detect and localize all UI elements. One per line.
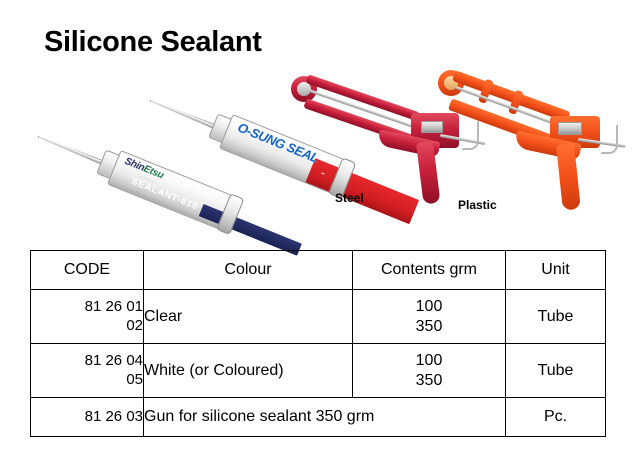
tube-nozzle-icon [149,98,218,130]
cell-contents: 100 350 [353,344,506,398]
cell-code: 81 26 03 [31,398,144,437]
code-line-1: 81 26 04 [31,352,143,370]
table-row: 81 26 01 02 Clear 100 350 Tube [31,290,606,344]
column-header-unit: Unit [506,251,606,290]
tube-nozzle-icon [37,134,106,166]
cell-colour: Clear [144,290,353,344]
column-header-colour: Colour [144,251,353,290]
tube-label-band [199,204,302,256]
caulking-gun-plastic: Plastic [410,58,610,213]
gun-hook-icon [600,124,618,154]
gun-label-steel: Steel [335,191,364,205]
gun-label-plastic: Plastic [458,198,497,212]
cell-contents: 100 350 [353,290,506,344]
cell-unit: Pc. [506,398,606,437]
column-header-code: CODE [31,251,144,290]
contents-line-2: 350 [353,371,505,391]
code-line-1: 81 26 03 [31,408,143,426]
cell-colour: White (or Coloured) [144,344,353,398]
contents-line-1: 100 [353,351,505,371]
contents-line-1: 100 [353,297,505,317]
cell-description: Gun for silicone sealant 350 grm [144,398,506,437]
gun-pressure-plate [558,122,582,135]
table-row: 81 26 03 Gun for silicone sealant 350 gr… [31,398,606,437]
code-line-2: 02 [31,317,143,335]
cell-code: 81 26 01 02 [31,290,144,344]
product-photo-area: ShinEtsu ········ SEALANT-810 O-SUNG SEA… [0,58,633,238]
cell-code: 81 26 04 05 [31,344,144,398]
catalog-page: Silicone Sealant ShinEtsu ········ SEALA… [0,0,633,458]
code-line-1: 81 26 01 [31,298,143,316]
contents-line-2: 350 [353,317,505,337]
column-header-contents: Contents grm [353,251,506,290]
code-line-2: 05 [31,371,143,389]
cell-unit: Tube [506,290,606,344]
page-title: Silicone Sealant [44,26,262,59]
specification-table: CODE Colour Contents grm Unit 81 26 01 0… [30,250,606,437]
cell-unit: Tube [506,344,606,398]
table-header-row: CODE Colour Contents grm Unit [31,251,606,290]
table-row: 81 26 04 05 White (or Coloured) 100 350 … [31,344,606,398]
